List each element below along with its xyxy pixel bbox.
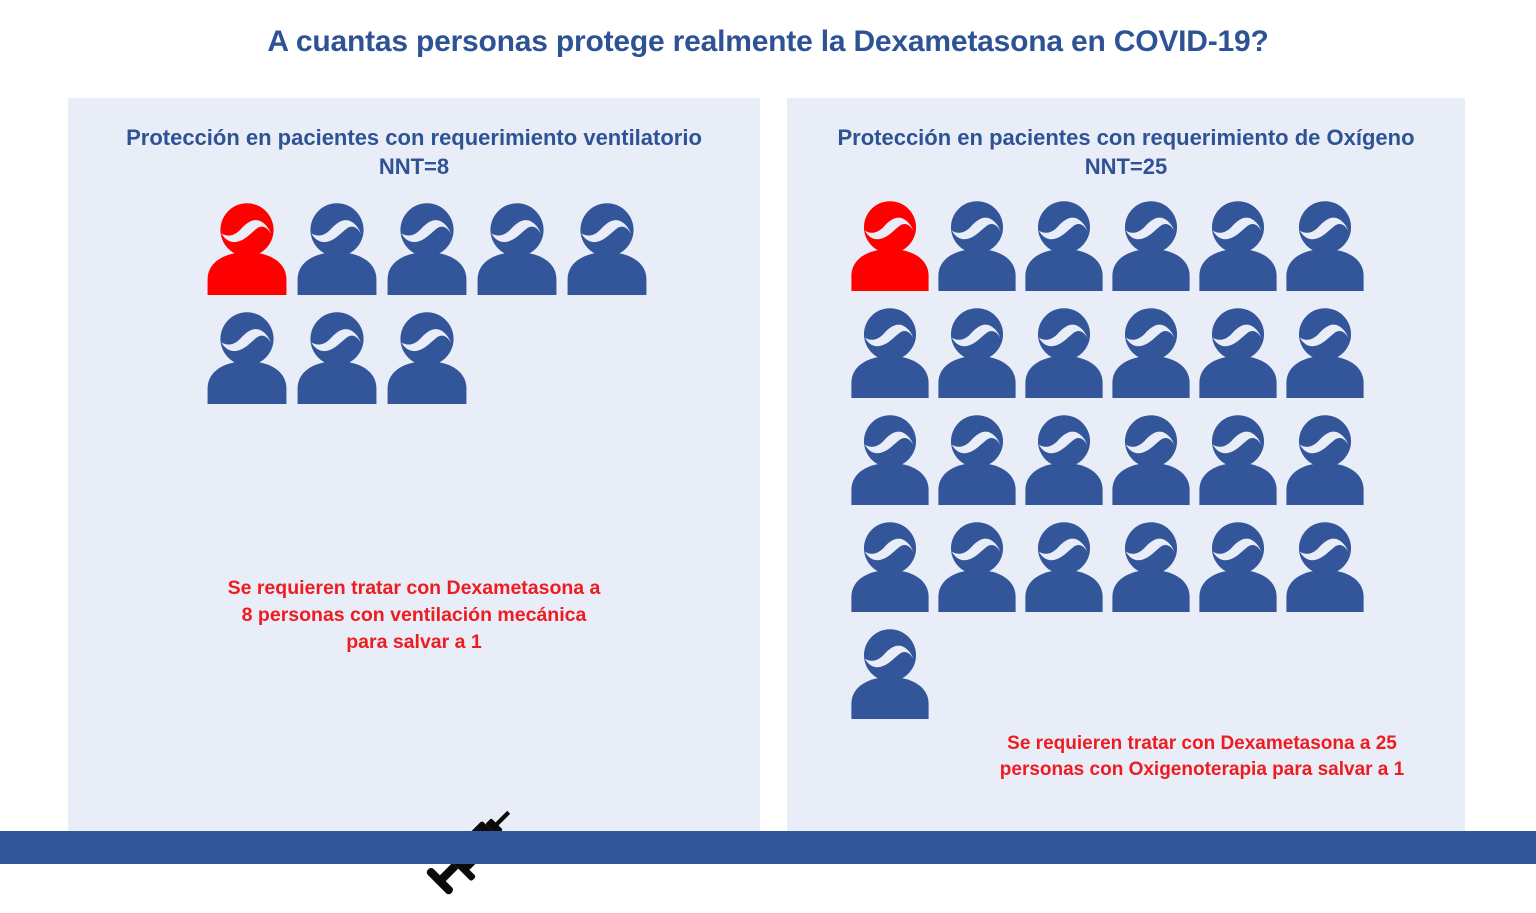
panel-ventilatory-heading-line1: Protección en pacientes con requerimient… <box>126 125 577 150</box>
pictogram-row <box>204 199 760 295</box>
person-icon <box>1022 304 1106 398</box>
panel-ventilatory-heading: Protección en pacientes con requerimient… <box>68 123 760 181</box>
person-icon <box>1196 304 1280 398</box>
pictogram-row <box>848 625 1465 719</box>
person-icon <box>848 304 932 398</box>
person-icon <box>1196 197 1280 291</box>
person-icon <box>935 518 1019 612</box>
footer-bar <box>0 831 1536 864</box>
caption-oxygen: Se requieren tratar con Dexametasona a 2… <box>952 731 1452 783</box>
person-icon-highlighted <box>204 199 290 295</box>
pictogram-oxygen <box>848 197 1465 719</box>
panel-ventilatory-nnt: NNT=8 <box>90 152 738 181</box>
pictogram-row <box>848 411 1465 505</box>
person-icon <box>848 625 932 719</box>
person-icon <box>935 197 1019 291</box>
panel-oxygen-heading-line1: Protección en pacientes con requerimient… <box>837 125 1320 150</box>
person-icon <box>848 411 932 505</box>
caption-ventilatory-line2: 8 personas con ventilación mecánica <box>148 602 680 629</box>
panel-oxygen: Protección en pacientes con requerimient… <box>787 98 1465 832</box>
person-icon <box>474 199 560 295</box>
person-icon <box>1109 197 1193 291</box>
person-icon <box>1283 518 1367 612</box>
person-icon <box>1109 518 1193 612</box>
pictogram-row <box>848 197 1465 291</box>
caption-oxygen-line2: personas con Oxigenoterapia para salvar … <box>952 757 1452 783</box>
person-icon <box>564 199 650 295</box>
person-icon <box>384 308 470 404</box>
page-title: A cuantas personas protege realmente la … <box>0 24 1536 60</box>
panel-oxygen-heading-line2: Oxígeno <box>1327 125 1415 150</box>
person-icon <box>1022 411 1106 505</box>
person-icon <box>1022 518 1106 612</box>
panel-oxygen-nnt: NNT=25 <box>809 152 1443 181</box>
person-icon <box>1109 304 1193 398</box>
panel-ventilatory: Protección en pacientes con requerimient… <box>68 98 760 832</box>
pictogram-row <box>848 304 1465 398</box>
person-icon <box>1022 197 1106 291</box>
panel-ventilatory-heading-line2: ventilatorio <box>583 125 702 150</box>
person-icon <box>204 308 290 404</box>
person-icon <box>935 304 1019 398</box>
caption-ventilatory-line3: para salvar a 1 <box>148 629 680 656</box>
pictogram-row <box>848 518 1465 612</box>
person-icon-highlighted <box>848 197 932 291</box>
caption-ventilatory-line1: Se requieren tratar con Dexametasona a <box>148 575 680 602</box>
person-icon <box>1283 197 1367 291</box>
person-icon <box>294 308 380 404</box>
person-icon <box>1196 411 1280 505</box>
caption-ventilatory: Se requieren tratar con Dexametasona a 8… <box>148 575 680 656</box>
caption-oxygen-line1: Se requieren tratar con Dexametasona a 2… <box>952 731 1452 757</box>
pictogram-row <box>204 308 760 404</box>
person-icon <box>848 518 932 612</box>
panel-oxygen-heading: Protección en pacientes con requerimient… <box>787 123 1465 181</box>
person-icon <box>935 411 1019 505</box>
pictogram-ventilatory <box>204 199 760 404</box>
person-icon <box>384 199 470 295</box>
person-icon <box>294 199 380 295</box>
person-icon <box>1283 411 1367 505</box>
person-icon <box>1283 304 1367 398</box>
person-icon <box>1109 411 1193 505</box>
person-icon <box>1196 518 1280 612</box>
